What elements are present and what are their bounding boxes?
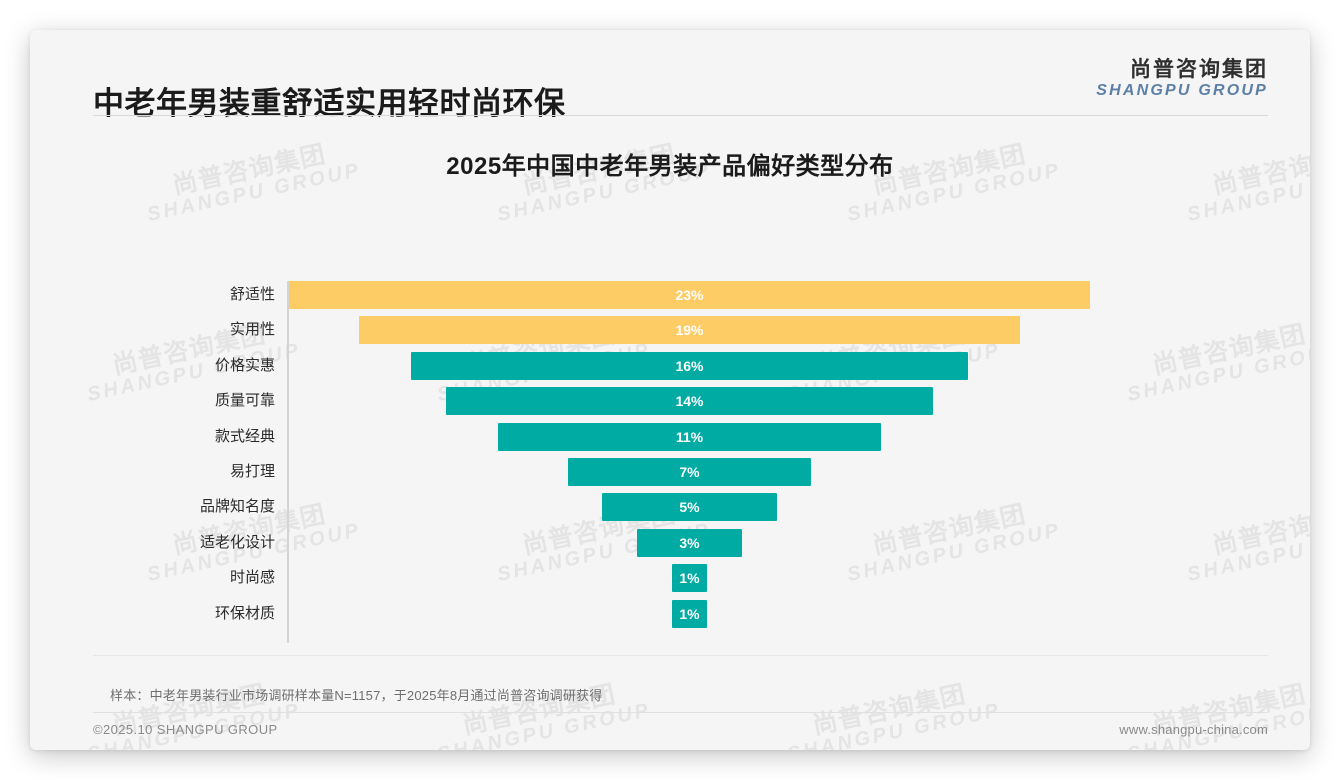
category-label: 舒适性 xyxy=(135,281,275,309)
slide-header: 中老年男装重舒适实用轻时尚环保 尚普咨询集团 SHANGPU GROUP xyxy=(30,30,1310,122)
brand-name-en: SHANGPU GROUP xyxy=(1096,82,1268,100)
chart-row: 环保材质1% xyxy=(135,600,1215,628)
chart-row: 质量可靠14% xyxy=(135,387,1215,415)
chart-row: 品牌知名度5% xyxy=(135,493,1215,521)
bar-segment[interactable] xyxy=(411,352,968,380)
chart-footnote: 样本：中老年男装行业市场调研样本量N=1157，于2025年8月通过尚普咨询调研… xyxy=(110,685,603,704)
category-label: 易打理 xyxy=(135,458,275,486)
header-divider xyxy=(93,115,1268,116)
bar-segment[interactable] xyxy=(637,529,741,557)
category-label: 品牌知名度 xyxy=(135,493,275,521)
chart-area: 2025年中国中老年男装产品偏好类型分布 舒适性23%实用性19%价格实惠16%… xyxy=(30,130,1310,665)
footer-copyright: ©2025.10 SHANGPU GROUP xyxy=(93,722,278,737)
slide-footer: ©2025.10 SHANGPU GROUP www.shangpu-china… xyxy=(30,712,1310,750)
chart-row: 价格实惠16% xyxy=(135,352,1215,380)
brand-name-cn: 尚普咨询集团 xyxy=(1096,58,1268,82)
bar-segment[interactable] xyxy=(672,600,707,628)
chart-row: 款式经典11% xyxy=(135,423,1215,451)
category-label: 款式经典 xyxy=(135,423,275,451)
bar-segment[interactable] xyxy=(602,493,776,521)
chart-row: 实用性19% xyxy=(135,316,1215,344)
footnote-divider xyxy=(93,655,1268,656)
bar-segment[interactable] xyxy=(446,387,934,415)
chart-row: 时尚感1% xyxy=(135,564,1215,592)
funnel-bar-chart: 舒适性23%实用性19%价格实惠16%质量可靠14%款式经典11%易打理7%品牌… xyxy=(135,218,1215,658)
bar-segment[interactable] xyxy=(359,316,1021,344)
category-label: 价格实惠 xyxy=(135,352,275,380)
slide-page: 尚普咨询集团SHANGPU GROUP尚普咨询集团SHANGPU GROUP尚普… xyxy=(30,30,1310,750)
category-label: 适老化设计 xyxy=(135,529,275,557)
footer-website[interactable]: www.shangpu-china.com xyxy=(1119,722,1268,737)
category-label: 时尚感 xyxy=(135,564,275,592)
bar-segment[interactable] xyxy=(568,458,812,486)
chart-row: 易打理7% xyxy=(135,458,1215,486)
category-label: 环保材质 xyxy=(135,600,275,628)
bar-segment[interactable] xyxy=(289,281,1090,309)
chart-row: 适老化设计3% xyxy=(135,529,1215,557)
chart-row: 舒适性23% xyxy=(135,281,1215,309)
brand-logo: 尚普咨询集团 SHANGPU GROUP xyxy=(1096,58,1268,99)
chart-title: 2025年中国中老年男装产品偏好类型分布 xyxy=(30,146,1310,181)
bar-segment[interactable] xyxy=(498,423,881,451)
page-title: 中老年男装重舒适实用轻时尚环保 xyxy=(93,78,566,123)
bar-segment[interactable] xyxy=(672,564,707,592)
category-label: 实用性 xyxy=(135,316,275,344)
category-label: 质量可靠 xyxy=(135,387,275,415)
